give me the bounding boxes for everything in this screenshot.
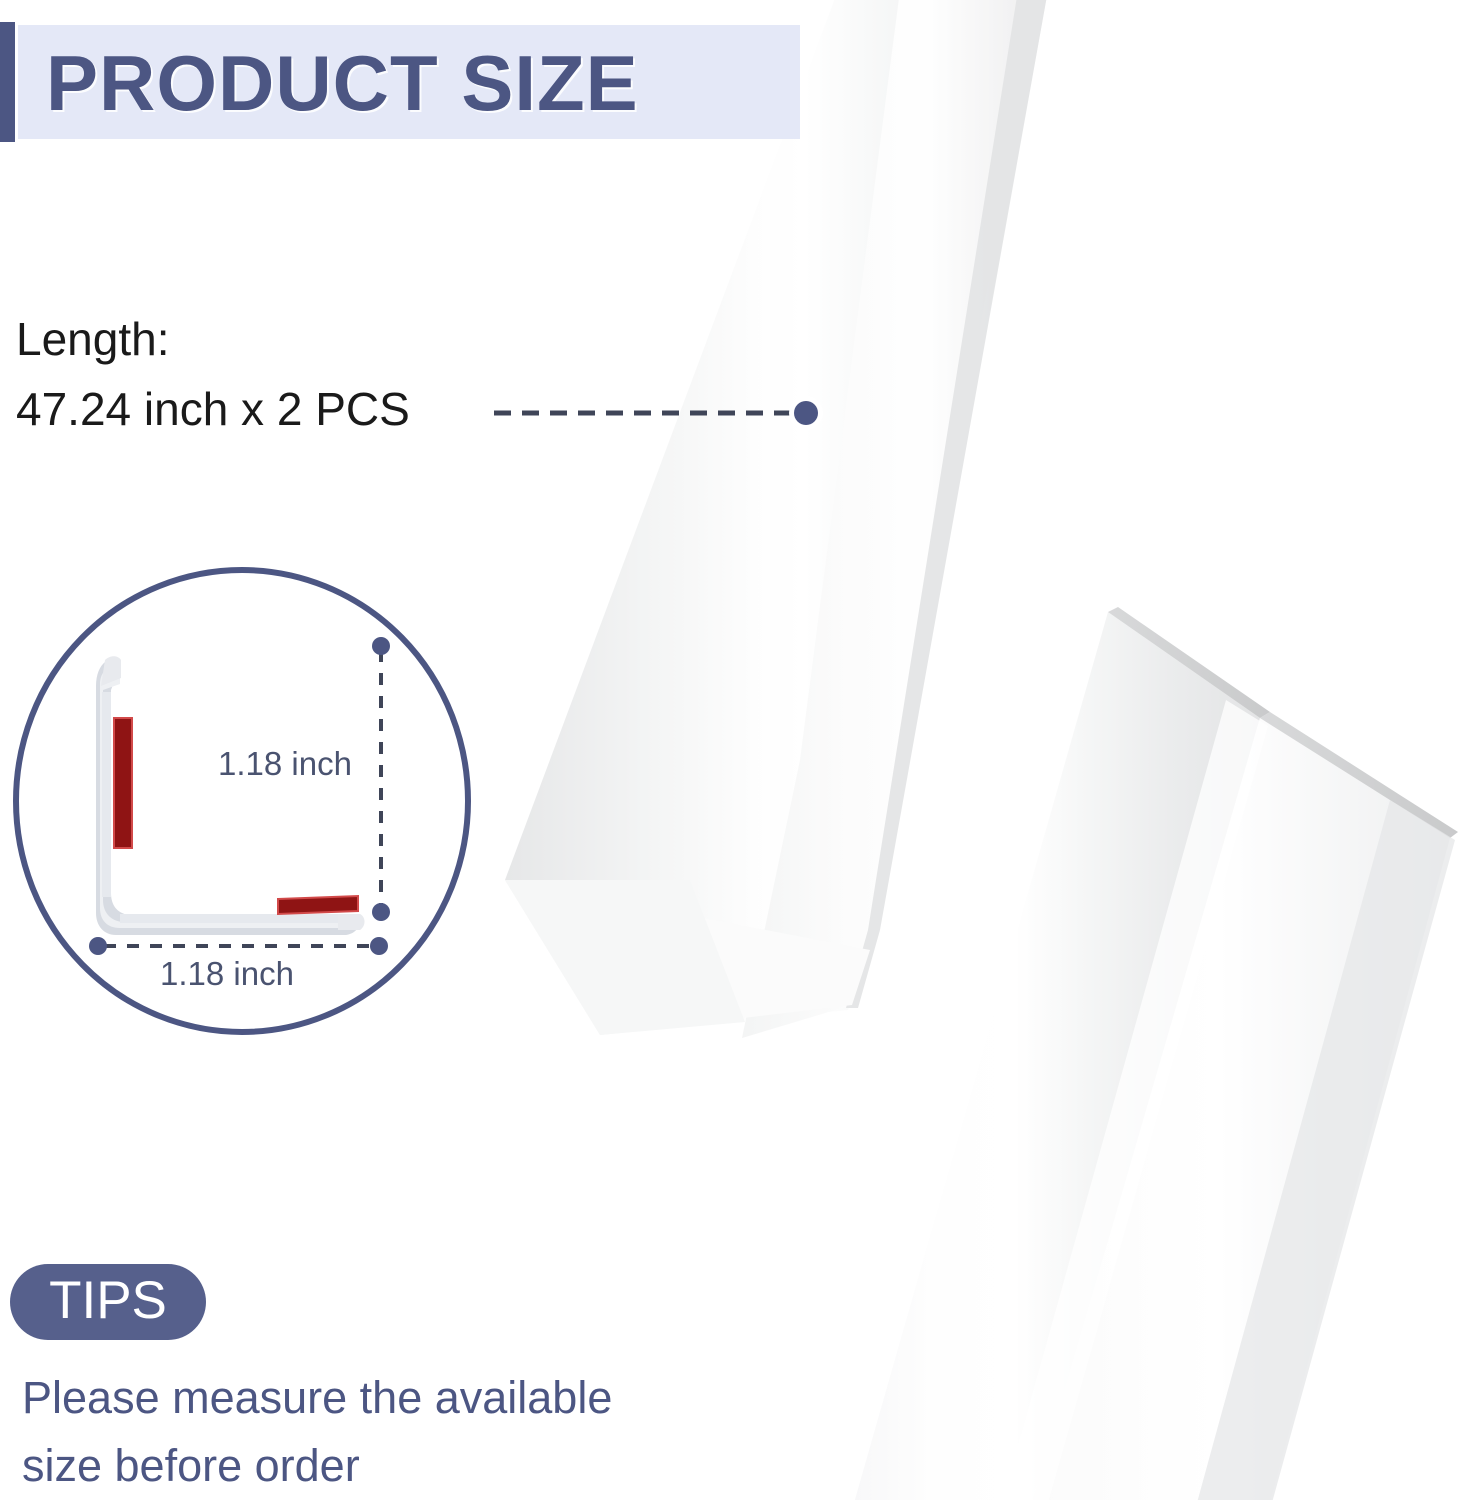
header-accent-bar	[0, 22, 15, 142]
product-strip-1	[505, 0, 1048, 1038]
leader-line	[480, 385, 840, 445]
leader-dot	[794, 401, 818, 425]
tips-badge-label: TIPS	[10, 1264, 206, 1340]
product-strip-2	[852, 607, 1458, 1500]
tips-badge: TIPS	[10, 1264, 206, 1340]
tips-text-line-2: size before order	[22, 1440, 360, 1492]
product-size-infographic: PRODUCT SIZE Length: 47.24 inch x 2 PCS	[0, 0, 1470, 1500]
length-label: Length:	[16, 312, 169, 366]
vertical-dimension-line	[372, 637, 390, 921]
horizontal-dimension-label: 1.18 inch	[160, 955, 294, 993]
horizontal-dimension-line	[89, 937, 388, 955]
adhesive-strip-vertical	[114, 718, 132, 848]
length-value: 47.24 inch x 2 PCS	[16, 382, 410, 436]
adhesive-strip-horizontal	[278, 896, 358, 914]
page-title: PRODUCT SIZE	[46, 34, 806, 132]
tips-text-line-1: Please measure the available	[22, 1372, 612, 1424]
corner-guard-profile	[96, 656, 365, 935]
vertical-dimension-label: 1.18 inch	[218, 745, 352, 783]
